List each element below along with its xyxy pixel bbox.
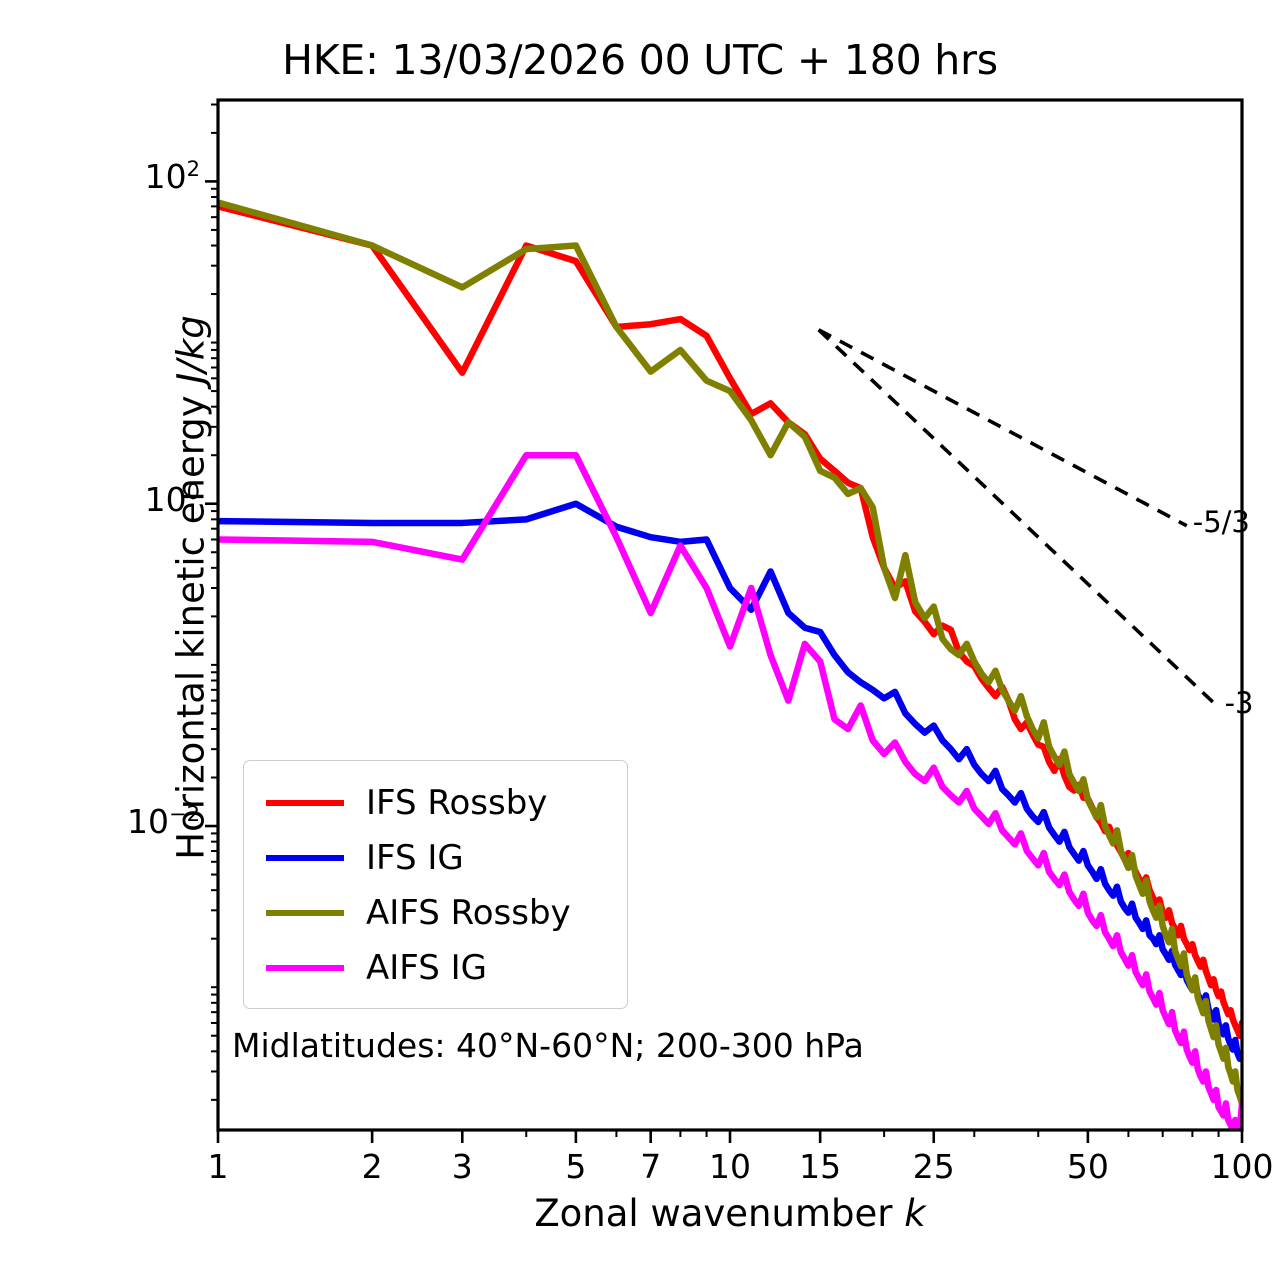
y-tick-label: 102 — [145, 157, 200, 196]
x-tick-label: 15 — [770, 1147, 870, 1186]
legend-item-ifs-ig[interactable]: IFS IG — [244, 830, 627, 885]
legend-item-label: IFS IG — [366, 838, 464, 878]
legend-item-label: AIFS IG — [366, 948, 487, 988]
legend-item-ifs-rossby[interactable]: IFS Rossby — [244, 775, 627, 830]
legend-color-swatch — [266, 855, 344, 861]
legend-color-swatch — [266, 910, 344, 916]
y-tick-label: 10−2 — [127, 802, 200, 841]
x-tick-label: 3 — [412, 1147, 512, 1186]
legend-color-swatch — [266, 965, 344, 971]
x-tick-label: 1 — [168, 1147, 268, 1186]
x-tick-label: 50 — [1038, 1147, 1138, 1186]
legend-item-label: IFS Rossby — [366, 783, 547, 823]
x-tick-label: 10 — [680, 1147, 780, 1186]
y-tick-label: 100 — [145, 480, 200, 519]
slope-reference-label: -5/3 — [1193, 505, 1250, 539]
legend-item-aifs-ig[interactable]: AIFS IG — [244, 940, 627, 995]
legend-item-label: AIFS Rossby — [366, 893, 571, 933]
slope-reference-label: -3 — [1225, 686, 1254, 720]
legend[interactable]: IFS RossbyIFS IGAIFS RossbyAIFS IG — [243, 760, 628, 1009]
region-annotation: Midlatitudes: 40°N-60°N; 200-300 hPa — [232, 1026, 864, 1065]
x-tick-label: 25 — [884, 1147, 984, 1186]
x-tick-label: 2 — [322, 1147, 422, 1186]
figure-canvas: HKE: 13/03/2026 00 UTC + 180 hrs Horizon… — [0, 0, 1280, 1288]
legend-item-aifs-rossby[interactable]: AIFS Rossby — [244, 885, 627, 940]
legend-color-swatch — [266, 800, 344, 806]
x-tick-label: 100 — [1192, 1147, 1280, 1186]
